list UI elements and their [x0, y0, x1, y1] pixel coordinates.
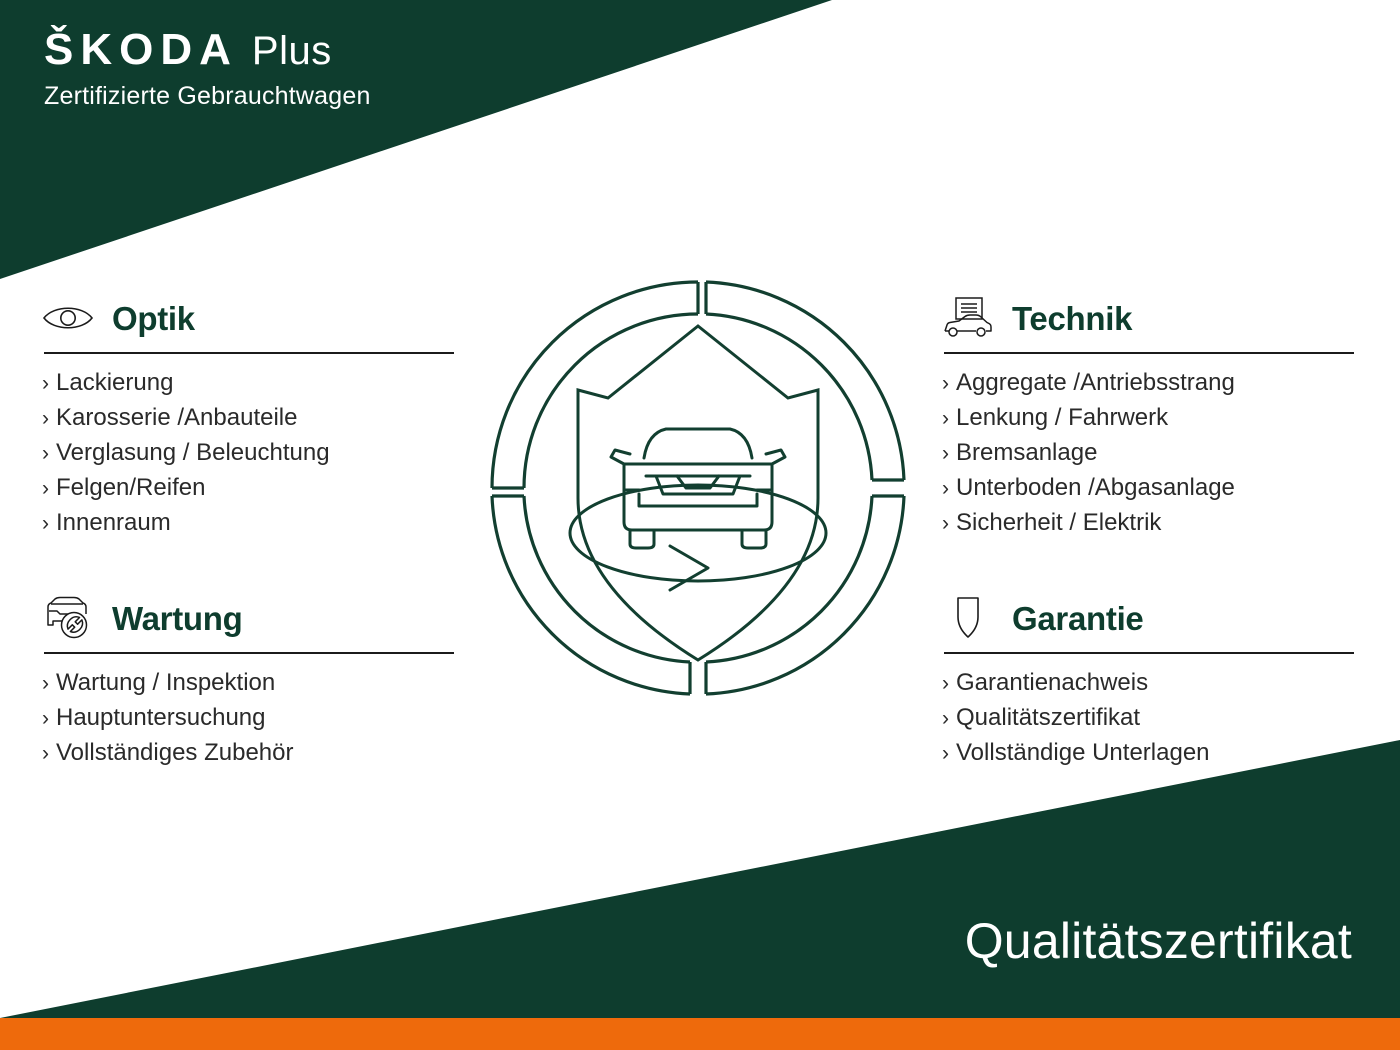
section-technik-list: ›Aggregate /Antriebsstrang ›Lenkung / Fa…: [942, 366, 1362, 541]
chevron-right-icon: ›: [942, 507, 949, 541]
chevron-right-icon: ›: [942, 737, 949, 771]
chevron-right-icon: ›: [942, 437, 949, 471]
list-item-label: Innenraum: [56, 506, 171, 540]
list-item-label: Garantienachweis: [956, 666, 1148, 700]
chevron-right-icon: ›: [42, 472, 49, 506]
brand-name: ŠKODA: [44, 28, 238, 72]
section-garantie-header: Garantie: [942, 592, 1362, 644]
section-wartung-list: ›Wartung / Inspektion ›Hauptuntersuchung…: [42, 666, 462, 771]
list-item: ›Sicherheit / Elektrik: [942, 506, 1362, 541]
section-wartung: Wartung ›Wartung / Inspektion ›Hauptunte…: [42, 592, 462, 771]
list-item: ›Felgen/Reifen: [42, 471, 462, 506]
section-garantie-divider: [944, 652, 1354, 654]
list-item: ›Qualitätszertifikat: [942, 701, 1362, 736]
section-wartung-header: Wartung: [42, 592, 462, 644]
list-item-label: Vollständiges Zubehör: [56, 736, 294, 770]
list-item-label: Lenkung / Fahrwerk: [956, 401, 1168, 435]
chevron-right-icon: ›: [42, 507, 49, 541]
section-technik-header: Technik: [942, 292, 1362, 344]
list-item-label: Verglasung / Beleuchtung: [56, 436, 330, 470]
footer-green-banner: [0, 740, 1400, 1018]
list-item: ›Lackierung: [42, 366, 462, 401]
orange-accent-bar: [0, 1018, 1400, 1050]
list-item: ›Bremsanlage: [942, 436, 1362, 471]
chevron-right-icon: ›: [42, 402, 49, 436]
section-technik-divider: [944, 352, 1354, 354]
list-item-label: Karosserie /Anbauteile: [56, 401, 297, 435]
list-item-label: Wartung / Inspektion: [56, 666, 275, 700]
chevron-right-icon: ›: [42, 367, 49, 401]
list-item-label: Bremsanlage: [956, 436, 1097, 470]
eye-icon: [42, 296, 94, 340]
brand-logo-row: ŠKODA Plus: [44, 28, 371, 72]
chevron-right-icon: ›: [942, 402, 949, 436]
list-item: ›Lenkung / Fahrwerk: [942, 401, 1362, 436]
chevron-right-icon: ›: [942, 702, 949, 736]
list-item: ›Karosserie /Anbauteile: [42, 401, 462, 436]
chevron-right-icon: ›: [42, 737, 49, 771]
chevron-right-icon: ›: [42, 667, 49, 701]
list-item: ›Hauptuntersuchung: [42, 701, 462, 736]
section-garantie: Garantie ›Garantienachweis ›Qualitätszer…: [942, 592, 1362, 771]
list-item-label: Aggregate /Antriebsstrang: [956, 366, 1235, 400]
shield-icon: [942, 596, 994, 640]
section-garantie-title: Garantie: [1012, 602, 1144, 635]
list-item: ›Unterboden /Abgasanlage: [942, 471, 1362, 506]
section-optik-title: Optik: [112, 302, 195, 335]
brand-plus: Plus: [252, 31, 332, 71]
car-service-wrench-icon: [42, 596, 94, 640]
chevron-right-icon: ›: [942, 367, 949, 401]
list-item-label: Felgen/Reifen: [56, 471, 205, 505]
section-garantie-list: ›Garantienachweis ›Qualitätszertifikat ›…: [942, 666, 1362, 771]
section-wartung-divider: [44, 652, 454, 654]
list-item: ›Verglasung / Beleuchtung: [42, 436, 462, 471]
chevron-right-icon: ›: [42, 702, 49, 736]
brand-logo: ŠKODA Plus Zertifizierte Gebrauchtwagen: [44, 28, 371, 111]
list-item: ›Vollständige Unterlagen: [942, 736, 1362, 771]
list-item-label: Vollständige Unterlagen: [956, 736, 1210, 770]
list-item: ›Wartung / Inspektion: [42, 666, 462, 701]
list-item: ›Innenraum: [42, 506, 462, 541]
list-item: ›Vollständiges Zubehör: [42, 736, 462, 771]
chevron-right-icon: ›: [942, 667, 949, 701]
section-technik-title: Technik: [1012, 302, 1132, 335]
car-document-icon: [942, 296, 994, 340]
brand-subtitle: Zertifizierte Gebrauchtwagen: [44, 82, 371, 111]
section-optik-header: Optik: [42, 292, 462, 344]
list-item: ›Aggregate /Antriebsstrang: [942, 366, 1362, 401]
list-item-label: Sicherheit / Elektrik: [956, 506, 1161, 540]
page-title: Qualitätszertifikat: [965, 912, 1352, 970]
list-item-label: Unterboden /Abgasanlage: [956, 471, 1235, 505]
chevron-right-icon: ›: [42, 437, 49, 471]
section-optik-divider: [44, 352, 454, 354]
chevron-right-icon: ›: [942, 472, 949, 506]
section-technik: Technik ›Aggregate /Antriebsstrang ›Lenk…: [942, 292, 1362, 541]
section-wartung-title: Wartung: [112, 602, 242, 635]
list-item-label: Qualitätszertifikat: [956, 701, 1140, 735]
section-optik: Optik ›Lackierung ›Karosserie /Anbauteil…: [42, 292, 462, 541]
shield-car-rotation-emblem: [478, 268, 918, 713]
section-optik-list: ›Lackierung ›Karosserie /Anbauteile ›Ver…: [42, 366, 462, 541]
list-item: ›Garantienachweis: [942, 666, 1362, 701]
list-item-label: Hauptuntersuchung: [56, 701, 265, 735]
list-item-label: Lackierung: [56, 366, 173, 400]
